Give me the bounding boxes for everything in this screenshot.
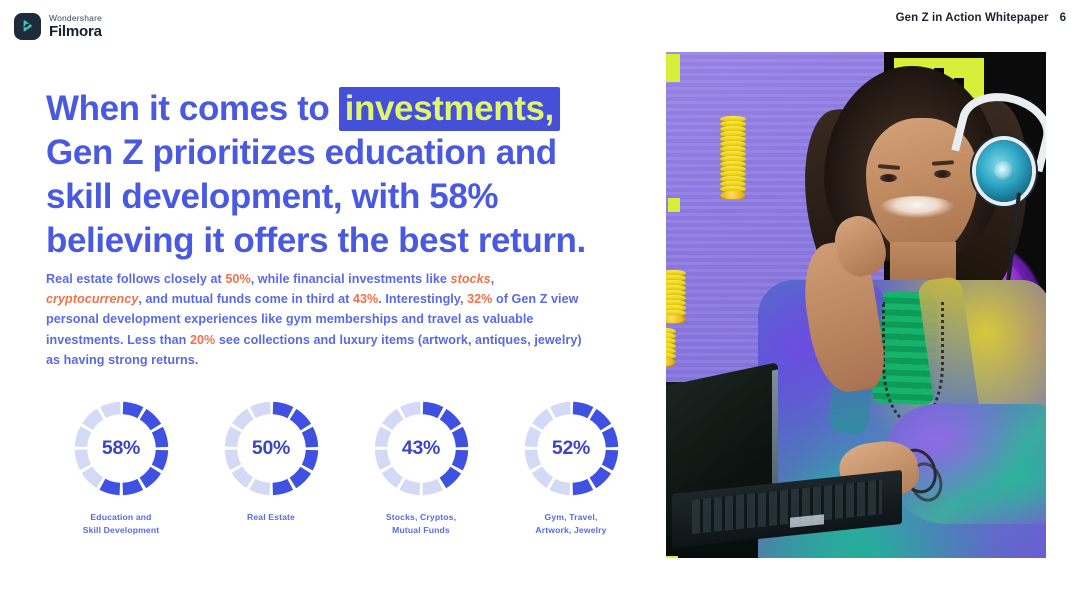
donut-label-line1: Education and (83, 511, 160, 524)
donut-label-line1: Stocks, Cryptos, (386, 511, 456, 524)
body-seg-1: Real estate follows closely at (46, 272, 225, 286)
donut-chart-stocks: 43% Stocks, Cryptos, Mutual Funds (346, 398, 496, 537)
donut-label-stocks: Stocks, Cryptos, Mutual Funds (386, 511, 456, 537)
headphones-earcup-icon (976, 140, 1032, 202)
donut-ring-stocks: 43% (371, 398, 472, 499)
donut-chart-education: 58% Education and Skill Development (46, 398, 196, 537)
body-emphasis-stocks: stocks (451, 272, 491, 286)
donut-label-real-estate: Real Estate (247, 511, 295, 524)
body-paragraph: Real estate follows closely at 50%, whil… (46, 269, 591, 371)
eye-right (934, 170, 951, 178)
document-title: Gen Z in Action Whitepaper (896, 12, 1049, 24)
body-seg-5: . Interestingly, (378, 292, 467, 306)
lime-square-accent (666, 54, 680, 82)
brand-product: Filmora (49, 24, 102, 39)
coin-stack-icon (720, 116, 746, 198)
body-seg-4: , and mutual funds come in third at (138, 292, 353, 306)
coin-stack-icon (666, 328, 676, 365)
page-title: When it comes to investments, Gen Z prio… (46, 87, 646, 263)
donut-label-line2: Skill Development (83, 524, 160, 537)
donut-value-gym-travel: 52% (521, 398, 622, 499)
body-stat-collections: 20% (190, 333, 215, 347)
donut-label-line1: Real Estate (247, 511, 295, 524)
brand-logo[interactable]: Wondershare Filmora (14, 13, 102, 40)
body-seg-2: , while financial investments like (251, 272, 451, 286)
lime-square-accent (668, 198, 680, 212)
lime-square-accent (666, 556, 678, 558)
brand-company: Wondershare (49, 14, 102, 23)
headline-highlight: investments, (339, 87, 560, 131)
donut-ring-real-estate: 50% (221, 398, 322, 499)
page-number: 6 (1060, 12, 1066, 24)
donut-chart-gym-travel: 52% Gym, Travel, Artwork, Jewelry (496, 398, 646, 537)
donut-label-line2: Mutual Funds (386, 524, 456, 537)
slide-page: Wondershare Filmora Gen Z in Action Whit… (0, 0, 1080, 602)
donut-value-stocks: 43% (371, 398, 472, 499)
donut-ring-gym-travel: 52% (521, 398, 622, 499)
document-header: Gen Z in Action Whitepaper 6 (896, 12, 1066, 24)
headline-line-1: When it comes to investments, (46, 87, 560, 131)
body-seg-3: , (491, 272, 495, 286)
donut-label-education: Education and Skill Development (83, 511, 160, 537)
body-emphasis-crypto: cryptocurrency (46, 292, 138, 306)
hero-photo-frame (666, 52, 1046, 558)
donut-value-real-estate: 50% (221, 398, 322, 499)
eye-left (880, 174, 897, 182)
donut-label-line1: Gym, Travel, (535, 511, 606, 524)
donut-chart-group: 58% Education and Skill Development 50% … (46, 398, 646, 537)
donut-label-gym-travel: Gym, Travel, Artwork, Jewelry (535, 511, 606, 537)
body-stat-real-estate: 50% (225, 272, 250, 286)
headline-line-3: skill development, with 58% (46, 177, 498, 216)
headline-line-4: believing it offers the best return. (46, 221, 586, 260)
coin-stack-icon (666, 270, 686, 322)
body-stat-funds: 43% (353, 292, 378, 306)
donut-chart-real-estate: 50% Real Estate (196, 398, 346, 537)
donut-ring-education: 58% (71, 398, 172, 499)
donut-value-education: 58% (71, 398, 172, 499)
hero-photo (666, 52, 1046, 558)
filmora-play-icon (14, 13, 41, 40)
body-stat-personal-dev: 32% (467, 292, 492, 306)
headline-text-before: When it comes to (46, 89, 339, 128)
headline-line-2: Gen Z prioritizes education and (46, 133, 557, 172)
donut-label-line2: Artwork, Jewelry (535, 524, 606, 537)
